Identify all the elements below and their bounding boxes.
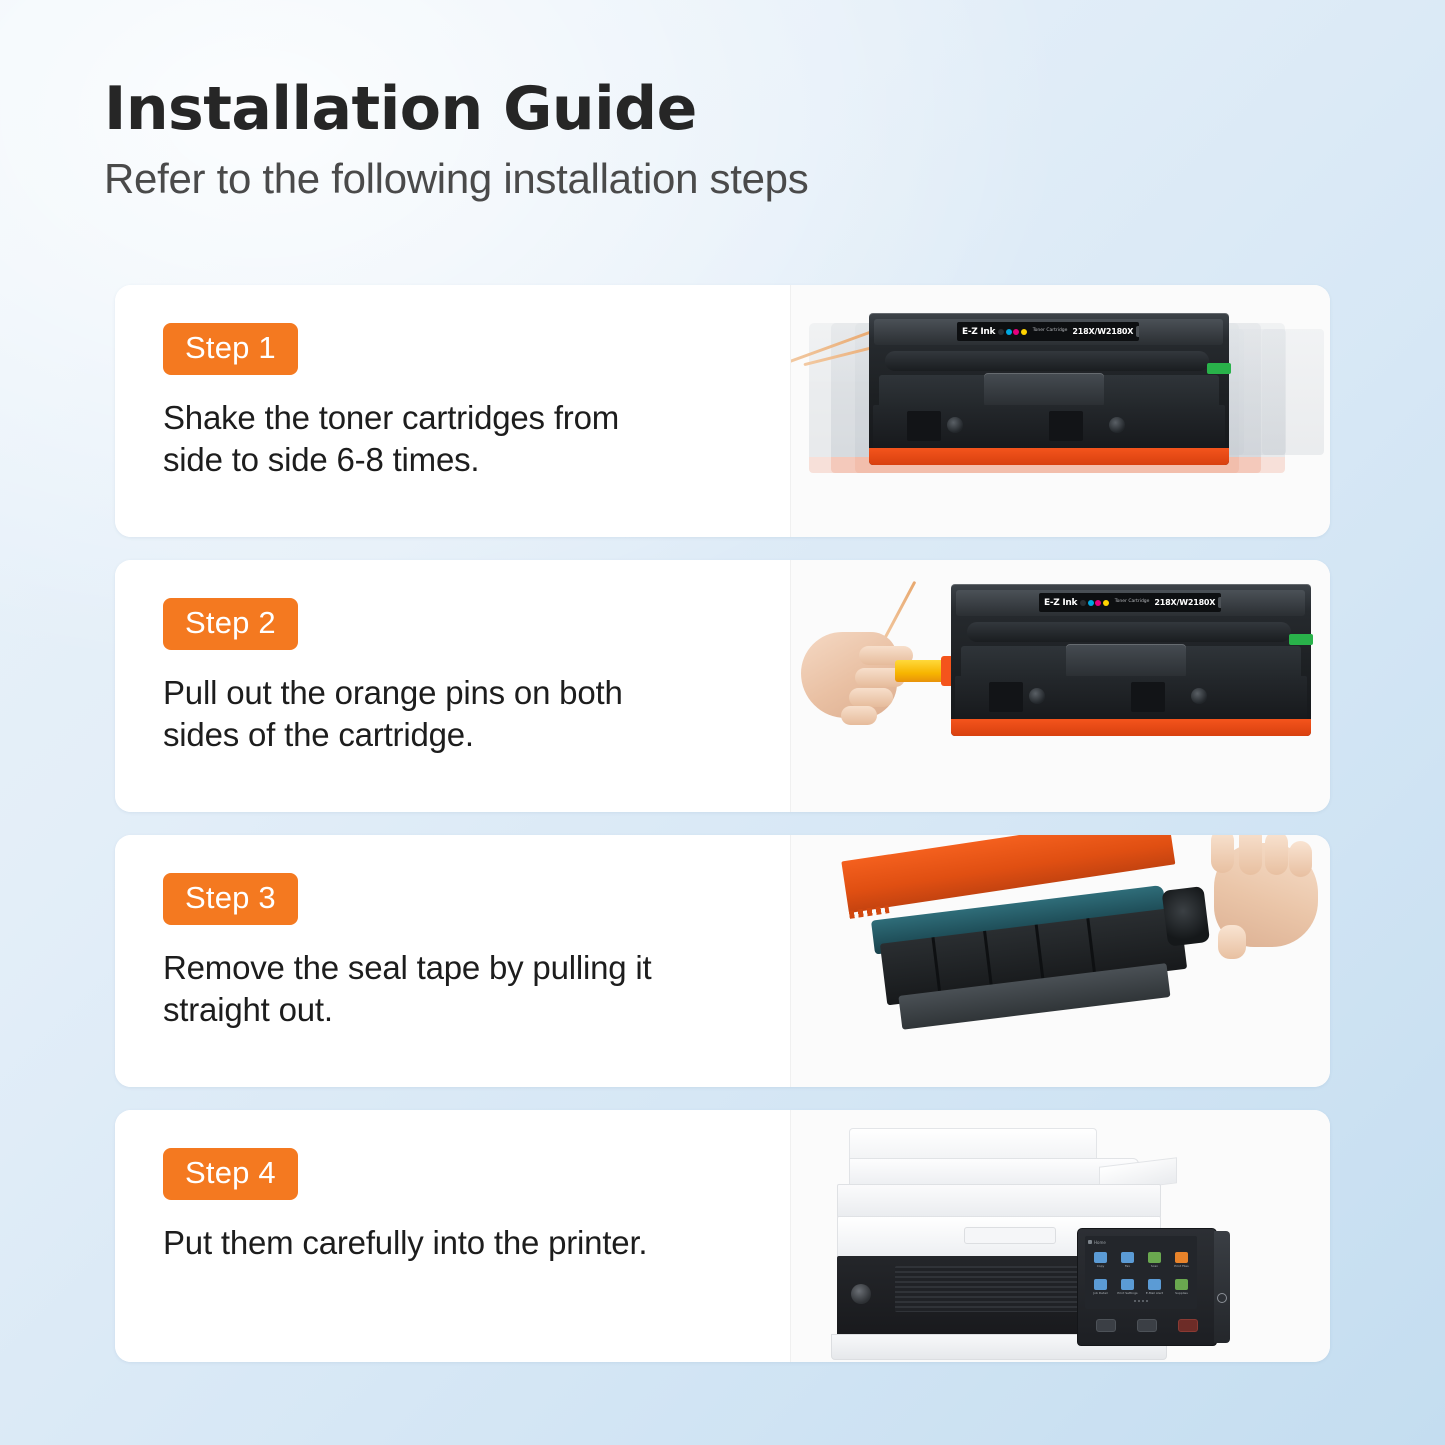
label-brand-text: E-Z Ink bbox=[1044, 598, 1077, 608]
ring-finger bbox=[849, 688, 893, 707]
label-color-dots bbox=[1080, 600, 1109, 606]
guide-header: Installation Guide Refer to the followin… bbox=[104, 78, 1204, 202]
label-product-line-text: Toner Cartridge bbox=[1115, 600, 1150, 605]
cartridge-screw-left bbox=[947, 417, 963, 433]
app-caption: Fax bbox=[1125, 1264, 1130, 1268]
step-1-image: E-Z Ink Toner Cartridge 218X/W2180X bbox=[790, 285, 1330, 537]
cartridge-vent-left bbox=[907, 411, 941, 441]
cartridge-screw-left bbox=[1029, 688, 1045, 704]
printer-door-grip bbox=[964, 1227, 1056, 1244]
laser-printer: Home Copy Fax Scan Print Files Job Detai… bbox=[831, 1128, 1213, 1358]
step-card-1[interactable]: Step 1 Shake the toner cartridges from s… bbox=[115, 285, 1330, 537]
pulling-pin-illustration: E-Z Ink Toner Cartridge 218X/W2180X bbox=[791, 560, 1330, 812]
cartridge-drum-assembly bbox=[869, 881, 1212, 1048]
label-model-text: 218X/W2180X bbox=[1072, 327, 1133, 336]
app-icon bbox=[1175, 1279, 1188, 1290]
page-subtitle: Refer to the following installation step… bbox=[104, 155, 1204, 202]
app-caption: Scan bbox=[1151, 1264, 1158, 1268]
app-caption: Supplies bbox=[1175, 1291, 1188, 1295]
label-product-line-text: Toner Cartridge bbox=[1033, 329, 1068, 334]
shaking-cartridge-illustration: E-Z Ink Toner Cartridge 218X/W2180X bbox=[791, 285, 1330, 537]
thumb bbox=[1218, 925, 1246, 959]
drum-rib bbox=[983, 931, 993, 989]
app-tile[interactable]: Job Detail bbox=[1088, 1274, 1113, 1299]
drum-rib bbox=[1086, 918, 1096, 976]
cartridge-roller bbox=[885, 351, 1209, 371]
ring-finger bbox=[1265, 835, 1288, 875]
app-caption: Job Detail bbox=[1093, 1291, 1107, 1295]
step-1-description: Shake the toner cartridges from side to … bbox=[163, 397, 683, 481]
cartridge-vent-right bbox=[1131, 682, 1165, 712]
step-2-image: E-Z Ink Toner Cartridge 218X/W2180X bbox=[790, 560, 1330, 812]
app-tile[interactable]: Fax bbox=[1115, 1247, 1140, 1272]
app-icon bbox=[1148, 1252, 1161, 1263]
cartridge-screw-right bbox=[1191, 688, 1207, 704]
app-tile[interactable]: Print Settings bbox=[1115, 1274, 1140, 1299]
label-brand-text: E-Z Ink bbox=[962, 327, 995, 337]
step-3-image bbox=[790, 835, 1330, 1087]
toner-cartridge: E-Z Ink Toner Cartridge 218X/W2180X bbox=[951, 584, 1311, 736]
seal-tape-illustration bbox=[791, 835, 1330, 1087]
index-finger bbox=[1211, 835, 1234, 873]
step-card-2[interactable]: Step 2 Pull out the orange pins on both … bbox=[115, 560, 1330, 812]
cartridge-orange-base bbox=[951, 719, 1311, 736]
touchscreen[interactable]: Home Copy Fax Scan Print Files Job Detai… bbox=[1085, 1236, 1197, 1309]
app-icon bbox=[1148, 1279, 1161, 1290]
step-4-description: Put them carefully into the printer. bbox=[163, 1222, 683, 1264]
app-tile[interactable]: Print Files bbox=[1169, 1247, 1194, 1272]
step-1-text-pane: Step 1 Shake the toner cartridges from s… bbox=[115, 285, 790, 537]
middle-finger bbox=[1239, 835, 1262, 875]
label-model-text: 218X/W2180X bbox=[1154, 598, 1215, 607]
app-icon bbox=[1094, 1279, 1107, 1290]
app-tile[interactable]: E-Mail Alert bbox=[1142, 1274, 1167, 1299]
steps-list: Step 1 Shake the toner cartridges from s… bbox=[115, 285, 1330, 1362]
screen-page-dots bbox=[1088, 1300, 1194, 1302]
help-button[interactable] bbox=[1096, 1319, 1116, 1332]
app-icon bbox=[1121, 1279, 1134, 1290]
cartridge-motion-ghost-right-3 bbox=[1262, 329, 1324, 455]
toner-cartridge: E-Z Ink Toner Cartridge 218X/W2180X bbox=[869, 313, 1229, 465]
printer-control-panel[interactable]: Home Copy Fax Scan Print Files Job Detai… bbox=[1077, 1228, 1217, 1346]
power-button-icon[interactable] bbox=[851, 1284, 871, 1304]
cartridge-vent-right bbox=[1049, 411, 1083, 441]
app-icon bbox=[1175, 1252, 1188, 1263]
cartridge-vent-left bbox=[989, 682, 1023, 712]
step-4-badge: Step 4 bbox=[163, 1148, 298, 1200]
step-3-badge: Step 3 bbox=[163, 873, 298, 925]
printer-scanner-unit bbox=[837, 1184, 1161, 1218]
screen-app-grid: Copy Fax Scan Print Files Job Detail Pri… bbox=[1088, 1247, 1194, 1299]
app-icon bbox=[1121, 1252, 1134, 1263]
cartridge-green-contact bbox=[1207, 363, 1231, 374]
step-card-4[interactable]: Step 4 Put them carefully into the print… bbox=[115, 1110, 1330, 1362]
app-caption: Print Files bbox=[1174, 1264, 1188, 1268]
app-caption: Copy bbox=[1097, 1264, 1105, 1268]
app-caption: Print Settings bbox=[1117, 1291, 1137, 1295]
little-finger bbox=[841, 706, 877, 725]
home-icon bbox=[1088, 1240, 1092, 1244]
label-color-dots bbox=[998, 329, 1027, 335]
step-2-text-pane: Step 2 Pull out the orange pins on both … bbox=[115, 560, 790, 812]
label-chip-icon bbox=[1136, 326, 1139, 337]
cartridge-brand-label: E-Z Ink Toner Cartridge 218X/W2180X bbox=[1039, 593, 1221, 612]
step-4-image: Home Copy Fax Scan Print Files Job Detai… bbox=[790, 1110, 1330, 1362]
label-chip-icon bbox=[1218, 597, 1221, 608]
panel-side-bezel bbox=[1214, 1231, 1230, 1343]
cartridge-screw-right bbox=[1109, 417, 1125, 433]
step-3-text-pane: Step 3 Remove the seal tape by pulling i… bbox=[115, 835, 790, 1087]
cartridge-handle bbox=[1066, 644, 1186, 678]
printer-adf-lid bbox=[849, 1128, 1097, 1160]
step-3-description: Remove the seal tape by pulling it strai… bbox=[163, 947, 683, 1031]
panel-button-row bbox=[1086, 1315, 1208, 1335]
cancel-button[interactable] bbox=[1178, 1319, 1198, 1332]
cartridge-lower-body bbox=[873, 405, 1225, 449]
settings-button[interactable] bbox=[1137, 1319, 1157, 1332]
page-title: Installation Guide bbox=[104, 78, 1204, 141]
step-1-badge: Step 1 bbox=[163, 323, 298, 375]
cartridge-orange-base bbox=[869, 448, 1229, 465]
cartridge-green-contact bbox=[1289, 634, 1313, 645]
cartridge-lower-body bbox=[955, 676, 1307, 720]
step-4-text-pane: Step 4 Put them carefully into the print… bbox=[115, 1110, 790, 1362]
step-card-3[interactable]: Step 3 Remove the seal tape by pulling i… bbox=[115, 835, 1330, 1087]
app-tile[interactable]: Copy bbox=[1088, 1247, 1113, 1272]
cartridge-brand-label: E-Z Ink Toner Cartridge 218X/W2180X bbox=[957, 322, 1139, 341]
hand bbox=[1188, 835, 1318, 979]
cartridge-handle bbox=[984, 373, 1104, 407]
drum-rib bbox=[1035, 924, 1045, 982]
printer-illustration: Home Copy Fax Scan Print Files Job Detai… bbox=[791, 1110, 1330, 1362]
little-finger bbox=[1289, 841, 1312, 877]
step-2-description: Pull out the orange pins on both sides o… bbox=[163, 672, 683, 756]
app-tile[interactable]: Supplies bbox=[1169, 1274, 1194, 1299]
app-caption: E-Mail Alert bbox=[1146, 1291, 1163, 1295]
nfc-icon bbox=[1217, 1293, 1227, 1303]
screen-status-label: Home bbox=[1094, 1240, 1106, 1245]
app-icon bbox=[1094, 1252, 1107, 1263]
screen-status-bar: Home bbox=[1088, 1239, 1194, 1245]
drum-rib bbox=[931, 937, 941, 995]
app-tile[interactable]: Scan bbox=[1142, 1247, 1167, 1272]
step-2-badge: Step 2 bbox=[163, 598, 298, 650]
cartridge-roller bbox=[967, 622, 1291, 642]
